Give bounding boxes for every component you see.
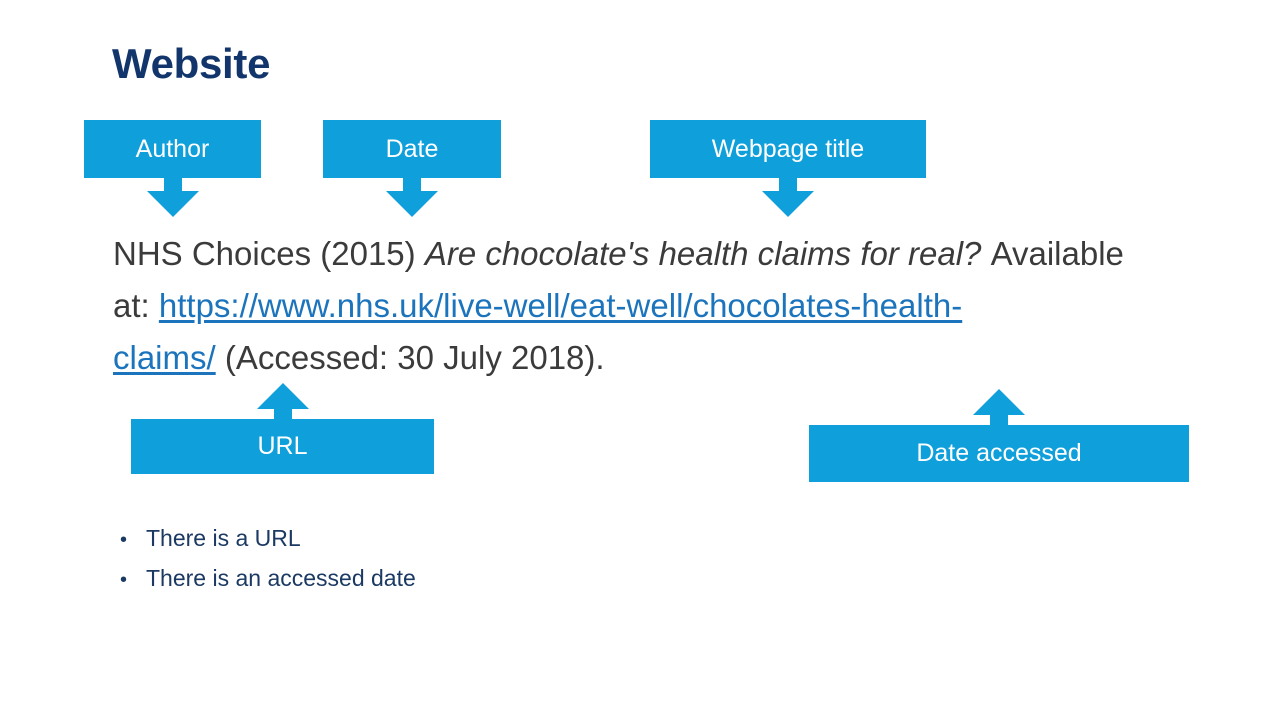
- callout-author-label: Author: [136, 137, 210, 162]
- callout-url-label: URL: [257, 434, 307, 459]
- citation-author: NHS Choices: [113, 235, 311, 272]
- bullet-list: • There is a URL • There is an accessed …: [120, 519, 720, 599]
- arrow-up-date-accessed-icon: [973, 389, 1025, 429]
- page-title: Website: [112, 42, 270, 86]
- callout-date-label: Date: [386, 137, 439, 162]
- citation-accessed: (Accessed: 30 July 2018).: [225, 339, 605, 376]
- callout-webpage-title: Webpage title: [650, 120, 926, 178]
- bullet-dot-icon: •: [120, 561, 146, 599]
- list-item-label: There is an accessed date: [146, 559, 416, 597]
- slide-canvas: Website Author Date Webpage title NHS Ch…: [0, 0, 1280, 720]
- callout-webpage-title-label: Webpage title: [712, 137, 864, 162]
- callout-date: Date: [323, 120, 501, 178]
- list-item: • There is a URL: [120, 519, 720, 559]
- arrow-down-author-icon: [147, 177, 199, 217]
- list-item: • There is an accessed date: [120, 559, 720, 599]
- callout-date-accessed-label: Date accessed: [916, 441, 1081, 466]
- citation-text: NHS Choices (2015) Are chocolate's healt…: [113, 228, 1183, 384]
- citation-year: (2015): [320, 235, 415, 272]
- arrow-down-webpage-title-icon: [762, 177, 814, 217]
- arrow-down-date-icon: [386, 177, 438, 217]
- citation-title: Are chocolate's health claims for real?: [425, 235, 982, 272]
- arrow-up-url-icon: [257, 383, 309, 423]
- bullet-dot-icon: •: [120, 521, 146, 559]
- list-item-label: There is a URL: [146, 519, 301, 557]
- callout-author: Author: [84, 120, 261, 178]
- callout-url: URL: [131, 419, 434, 474]
- callout-date-accessed: Date accessed: [809, 425, 1189, 482]
